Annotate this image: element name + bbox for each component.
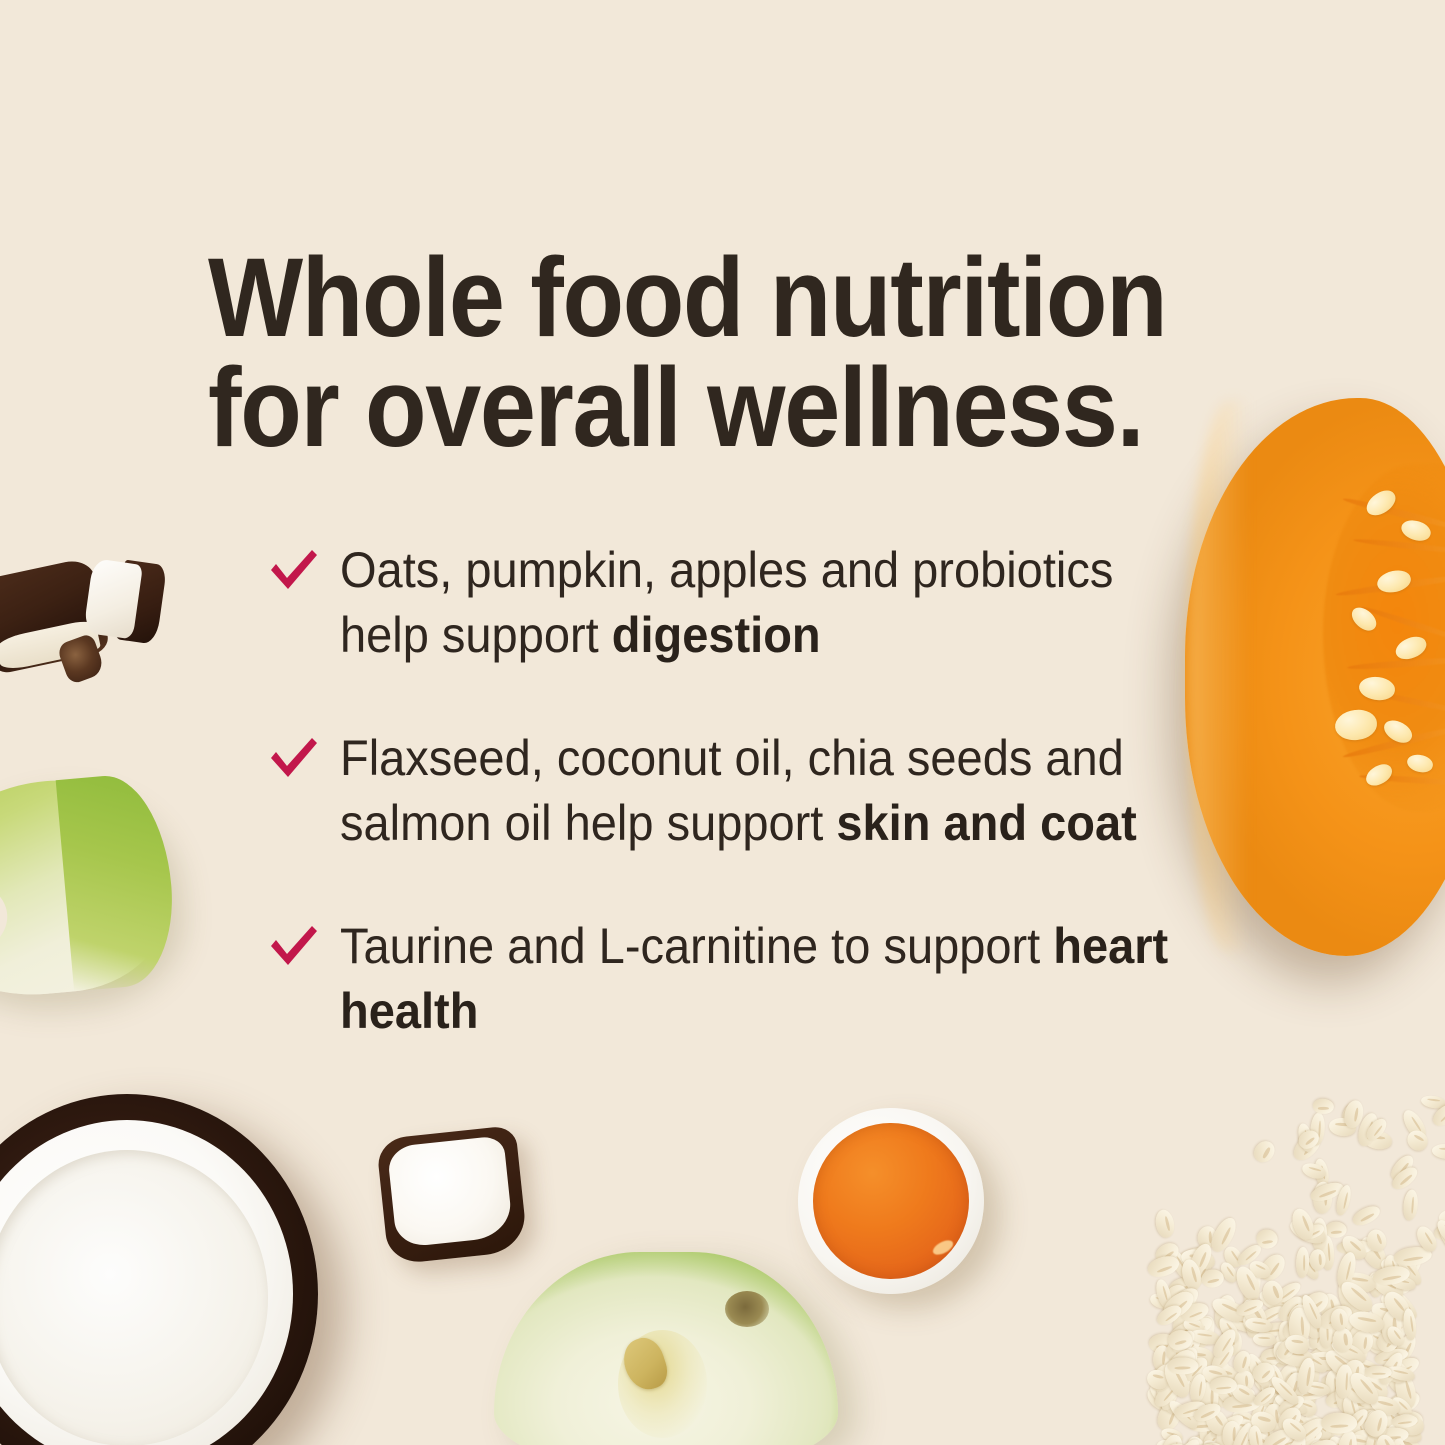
oat-flake <box>1180 1248 1217 1273</box>
salmon-oil-bowl-image <box>798 1108 984 1294</box>
oat-flake <box>1179 1353 1211 1385</box>
oat-flake <box>1166 1327 1194 1353</box>
oat-flake <box>1302 1340 1339 1373</box>
checkmark-icon <box>268 924 320 970</box>
oat-flake <box>1309 1178 1346 1205</box>
oat-flake <box>1321 1373 1355 1389</box>
oat-flake <box>1220 1244 1246 1272</box>
oat-flake <box>1351 1329 1374 1355</box>
oat-flake <box>1274 1335 1300 1363</box>
oat-flake <box>1168 1360 1204 1401</box>
oat-flake <box>1175 1313 1216 1346</box>
oat-flake <box>1392 1413 1419 1429</box>
oat-flake <box>1181 1317 1206 1337</box>
oat-flake <box>1273 1332 1290 1368</box>
oat-flake <box>1360 1433 1385 1445</box>
oat-flake <box>1378 1429 1408 1445</box>
oat-flake <box>1234 1434 1256 1445</box>
oat-flake <box>1179 1300 1211 1326</box>
oat-flake <box>1382 1362 1418 1399</box>
oat-flake <box>1432 1222 1445 1243</box>
oat-flake <box>1387 1421 1424 1445</box>
oat-flake <box>1143 1383 1179 1416</box>
oat-flake <box>1341 1270 1378 1293</box>
oat-flake <box>1312 1218 1327 1251</box>
oat-flake <box>1313 1181 1332 1213</box>
oat-flake <box>1367 1269 1407 1303</box>
oat-flake <box>1280 1315 1313 1345</box>
oat-flake <box>1391 1250 1421 1286</box>
oat-flake <box>1158 1381 1179 1407</box>
oat-flake <box>1278 1372 1314 1389</box>
oat-flake <box>1317 1300 1356 1333</box>
coconut-chunk-image <box>83 555 167 645</box>
oat-flake <box>1403 1189 1419 1221</box>
oat-flake <box>1211 1363 1240 1388</box>
oat-flake <box>1321 1348 1341 1374</box>
oat-flake <box>1294 1420 1316 1445</box>
oat-flake <box>1371 1319 1408 1356</box>
oat-flake <box>1258 1420 1277 1445</box>
oat-flake <box>1435 1221 1445 1256</box>
oat-flake <box>1229 1416 1267 1442</box>
oat-flake <box>1365 1365 1392 1378</box>
oat-flake <box>1273 1392 1309 1416</box>
oat-flake <box>1163 1345 1200 1384</box>
oat-flake <box>1326 1355 1356 1385</box>
oat-flake <box>1212 1361 1231 1394</box>
oat-flake <box>1208 1294 1248 1326</box>
oat-flake <box>1159 1426 1184 1445</box>
oat-flake <box>1232 1263 1265 1304</box>
oat-flake <box>1331 1308 1351 1336</box>
oat-flake <box>1337 1231 1370 1263</box>
oat-flake <box>1388 1430 1426 1445</box>
oat-flake <box>1355 1232 1391 1272</box>
oat-flake <box>1365 1227 1390 1254</box>
oat-flake <box>1148 1333 1178 1354</box>
oat-flake <box>1158 1358 1182 1386</box>
oat-flake <box>1201 1428 1224 1445</box>
oat-flake <box>1403 1127 1431 1154</box>
oat-flake <box>1364 1405 1381 1429</box>
oat-flake <box>1321 1412 1358 1434</box>
oat-flake <box>1402 1308 1418 1341</box>
oat-flake <box>1152 1345 1170 1371</box>
oat-flake <box>1221 1420 1241 1445</box>
oat-flake <box>1382 1253 1402 1282</box>
oat-flake <box>1242 1271 1263 1309</box>
oat-flake <box>1260 1278 1287 1308</box>
oat-flake <box>1166 1397 1201 1432</box>
oat-flake <box>1360 1317 1383 1343</box>
oat-flake <box>1304 1436 1333 1445</box>
oat-flake <box>1159 1433 1185 1445</box>
checkmark-icon <box>268 548 320 594</box>
oat-flake <box>1200 1268 1225 1290</box>
oat-flake <box>1147 1360 1178 1395</box>
oat-flake <box>1249 1358 1278 1387</box>
oat-flake <box>1329 1308 1349 1332</box>
oat-flake <box>1200 1391 1238 1406</box>
oat-flake <box>1270 1394 1285 1429</box>
oat-flake <box>1175 1344 1202 1376</box>
oat-flake <box>1155 1339 1182 1362</box>
oat-flake <box>1246 1258 1272 1281</box>
oat-flake <box>1324 1433 1355 1445</box>
oat-flake <box>1311 1349 1348 1373</box>
headline-line-1: Whole food nutrition <box>208 243 1171 353</box>
oat-flake <box>1295 1127 1322 1154</box>
oat-flake <box>1161 1436 1185 1445</box>
oat-flake <box>1162 1326 1199 1365</box>
oat-flake <box>1391 1331 1420 1367</box>
oat-flake <box>1388 1163 1420 1193</box>
benefit-text-lead: Taurine and L-carnitine to support <box>340 918 1053 974</box>
oat-flake <box>1339 1412 1364 1439</box>
oat-flake <box>1373 1369 1390 1390</box>
oat-flake <box>1256 1251 1289 1286</box>
coconut-chunk-image <box>56 633 106 685</box>
oat-flake <box>1354 1334 1369 1365</box>
oat-flake <box>1338 1425 1374 1445</box>
oat-flake <box>1394 1410 1423 1431</box>
oat-flake <box>1256 1376 1293 1412</box>
oat-flake <box>1284 1410 1310 1434</box>
oat-flake <box>1389 1394 1416 1420</box>
oat-flake <box>1362 1129 1393 1149</box>
oat-flake <box>1373 1346 1410 1368</box>
oat-flake <box>1329 1419 1362 1438</box>
checkmark-icon <box>268 736 320 782</box>
oat-flake <box>1256 1229 1279 1250</box>
oat-flake <box>1254 1303 1287 1328</box>
oat-flake <box>1226 1437 1249 1445</box>
oat-flake <box>1251 1383 1278 1409</box>
oat-flake <box>1160 1359 1194 1401</box>
oat-flake <box>1150 1354 1183 1386</box>
benefit-text: Taurine and L-carnitine to support heart… <box>340 914 1195 1044</box>
oat-flake <box>1392 1252 1425 1288</box>
oat-flake <box>1276 1392 1307 1419</box>
oat-flake <box>1253 1332 1276 1346</box>
oat-flake <box>1284 1334 1311 1356</box>
oat-flake <box>1210 1376 1238 1395</box>
oat-flake <box>1374 1326 1404 1356</box>
oat-flake <box>1334 1434 1370 1445</box>
rolled-oats-image <box>1126 1094 1445 1445</box>
oat-flake <box>1373 1426 1409 1445</box>
oat-flake <box>1290 1128 1326 1165</box>
oat-flake <box>1159 1379 1181 1411</box>
oat-flake <box>1252 1435 1284 1445</box>
oat-flake <box>1367 1272 1383 1298</box>
oat-flake <box>1160 1439 1192 1445</box>
oat-flake <box>1154 1302 1184 1330</box>
oat-flake <box>1265 1363 1287 1394</box>
oat-flake <box>1165 1246 1196 1284</box>
oat-flake <box>1292 1414 1325 1443</box>
page-title: Whole food nutrition for overall wellnes… <box>208 243 1171 463</box>
oat-flake <box>1287 1216 1329 1248</box>
oat-flake <box>1201 1406 1233 1439</box>
oat-flake <box>1211 1383 1238 1411</box>
oat-flake <box>1261 1426 1295 1445</box>
benefit-list: Oats, pumpkin, apples and probiotics hel… <box>268 538 1198 1044</box>
oat-flake <box>1229 1381 1258 1407</box>
oat-flake <box>1332 1377 1358 1415</box>
oat-flake <box>1221 1328 1243 1356</box>
oat-flake <box>1379 1356 1413 1388</box>
oat-flake <box>1369 1300 1406 1325</box>
oat-flake <box>1395 1253 1425 1286</box>
oat-flake <box>1341 1394 1362 1423</box>
oat-flake <box>1288 1205 1318 1242</box>
oat-flake <box>1344 1406 1371 1435</box>
oat-flake <box>1169 1326 1198 1356</box>
oat-flake <box>1217 1259 1240 1285</box>
oat-flake <box>1391 1438 1405 1445</box>
oat-flake <box>1291 1293 1322 1320</box>
oat-flake <box>1296 1252 1322 1282</box>
oat-flake <box>1275 1404 1305 1436</box>
oat-flake <box>1379 1256 1405 1276</box>
oat-flake <box>1216 1421 1234 1445</box>
oat-flake <box>1249 1436 1285 1445</box>
oat-flake <box>1152 1239 1182 1268</box>
oat-flake <box>1367 1338 1392 1357</box>
oat-flake <box>1345 1433 1373 1445</box>
oat-flake <box>1204 1415 1242 1441</box>
oat-flake <box>1166 1273 1198 1299</box>
oat-flake <box>1179 1257 1205 1292</box>
oat-flake <box>1182 1346 1214 1369</box>
oat-flake <box>1328 1337 1368 1366</box>
oat-flake <box>1205 1417 1234 1445</box>
oat-flake <box>1152 1435 1188 1445</box>
oat-flake <box>1345 1369 1383 1409</box>
oat-flake <box>1323 1370 1344 1403</box>
oat-flake <box>1234 1241 1263 1269</box>
oat-flake <box>1210 1411 1247 1443</box>
oat-flake <box>1197 1419 1216 1445</box>
oat-flake <box>1343 1099 1366 1129</box>
coconut-half-image <box>0 1094 318 1445</box>
oat-flake <box>1167 1356 1199 1374</box>
oat-flake <box>1357 1381 1374 1408</box>
oat-flake <box>1188 1431 1222 1445</box>
oat-flake <box>1309 1112 1325 1146</box>
oat-flake <box>1212 1297 1250 1324</box>
oat-flake <box>1302 1338 1336 1351</box>
oat-flake <box>1188 1253 1217 1291</box>
oat-flake <box>1162 1280 1192 1310</box>
oat-flake <box>1167 1316 1203 1344</box>
oat-flake <box>1362 1415 1390 1440</box>
oat-flake <box>1146 1252 1182 1281</box>
oat-flake <box>1176 1245 1211 1268</box>
oat-flake <box>1222 1393 1261 1414</box>
oat-flake <box>1244 1316 1273 1334</box>
oat-flake <box>1376 1312 1413 1349</box>
oat-flake <box>1198 1227 1217 1250</box>
oat-flake <box>1246 1427 1285 1445</box>
oat-flake <box>1282 1368 1310 1395</box>
oat-flake <box>1249 1409 1279 1435</box>
oat-flake <box>1338 1287 1373 1322</box>
oat-flake <box>1336 1240 1373 1256</box>
oat-flake <box>1364 1309 1392 1345</box>
oat-flake <box>1173 1287 1200 1315</box>
oat-flake <box>1336 1363 1358 1395</box>
oat-flake <box>1280 1371 1305 1409</box>
oat-flake <box>1429 1100 1445 1131</box>
oat-flake <box>1325 1221 1347 1238</box>
oat-flake <box>1377 1405 1412 1440</box>
oat-flake <box>1421 1095 1445 1110</box>
oat-flake <box>1200 1381 1219 1414</box>
oat-flake <box>1393 1244 1433 1268</box>
oat-flake <box>1324 1387 1355 1411</box>
oat-flake <box>1287 1346 1324 1389</box>
oat-flake <box>1159 1287 1197 1324</box>
oat-flake <box>1190 1441 1218 1445</box>
oat-flake <box>1376 1349 1407 1388</box>
oat-flake <box>1171 1435 1204 1445</box>
oat-flake <box>1363 1115 1389 1143</box>
oat-flake <box>1287 1387 1316 1407</box>
oat-flake <box>1166 1283 1202 1318</box>
oat-flake <box>1213 1293 1238 1330</box>
oat-flake <box>1154 1399 1184 1433</box>
oat-flake <box>1349 1417 1373 1445</box>
oat-flake <box>1339 1101 1362 1127</box>
oat-flake <box>1309 1248 1326 1271</box>
oat-flake <box>1363 1328 1391 1353</box>
oat-flake <box>1163 1350 1182 1377</box>
oat-flake <box>1384 1323 1408 1349</box>
oat-flake <box>1380 1291 1404 1310</box>
oat-flake <box>1276 1319 1300 1351</box>
oat-flake <box>1188 1313 1218 1352</box>
oat-flake <box>1353 1373 1376 1398</box>
coconut-piece-image <box>376 1125 528 1265</box>
oat-flake <box>1348 1309 1386 1335</box>
oat-flake <box>1368 1393 1402 1418</box>
oat-flake <box>1299 1293 1326 1331</box>
oat-flake <box>1189 1373 1208 1403</box>
oat-flake <box>1284 1433 1310 1445</box>
oat-flake <box>1208 1214 1241 1256</box>
oat-flake <box>1158 1382 1178 1410</box>
oat-flake <box>1389 1407 1415 1445</box>
oat-flake <box>1234 1296 1265 1319</box>
oat-flake <box>1273 1430 1307 1445</box>
oat-flake <box>1386 1353 1422 1383</box>
oat-flake <box>1256 1287 1295 1318</box>
oat-flake <box>1269 1338 1298 1368</box>
oat-flake <box>1275 1292 1306 1325</box>
oat-flake <box>1239 1359 1268 1385</box>
oat-flake <box>1339 1361 1359 1386</box>
oat-flake <box>1385 1286 1420 1322</box>
oat-flake <box>1364 1410 1384 1440</box>
oat-flake <box>1211 1326 1240 1360</box>
oat-flake <box>1271 1278 1303 1307</box>
oat-flake <box>1239 1307 1263 1327</box>
oat-flake <box>1296 1122 1317 1153</box>
oat-flake <box>1328 1117 1356 1136</box>
oat-flake <box>1372 1264 1411 1288</box>
oat-flake <box>1234 1414 1268 1445</box>
oat-flake <box>1172 1399 1207 1421</box>
oat-flake <box>1272 1437 1295 1445</box>
oat-flake <box>1350 1364 1379 1394</box>
oat-flake <box>1373 1432 1399 1445</box>
oat-flake <box>1195 1438 1227 1445</box>
oat-flake <box>1251 1137 1279 1166</box>
oat-flake <box>1245 1311 1260 1338</box>
oat-flake <box>1274 1392 1293 1415</box>
oat-flake <box>1318 1317 1332 1347</box>
oat-flake <box>1189 1328 1220 1346</box>
oat-flake <box>1342 1354 1382 1381</box>
oat-flake <box>1240 1307 1270 1336</box>
oat-flake <box>1308 1330 1346 1359</box>
oat-flake <box>1431 1144 1445 1160</box>
oat-flake <box>1332 1326 1355 1352</box>
oat-flake <box>1394 1412 1426 1437</box>
oat-flake <box>1303 1380 1331 1398</box>
oat-flake <box>1339 1319 1365 1345</box>
oat-flake <box>1152 1334 1180 1356</box>
oat-flake <box>1294 1396 1320 1419</box>
oat-flake <box>1433 1217 1445 1250</box>
oat-flake <box>1244 1351 1274 1391</box>
oat-flake <box>1338 1355 1355 1377</box>
oat-flake <box>1147 1332 1173 1355</box>
benefit-text: Flaxseed, coconut oil, chia seeds and sa… <box>340 726 1195 856</box>
oat-flake <box>1232 1349 1253 1375</box>
oat-flake <box>1196 1375 1224 1407</box>
oat-flake <box>1340 1312 1374 1339</box>
oat-flake <box>1285 1302 1310 1332</box>
oat-flake <box>1260 1348 1284 1364</box>
oat-flake <box>1399 1106 1431 1143</box>
oat-flake <box>1191 1399 1223 1425</box>
oat-flake <box>1439 1210 1445 1228</box>
oat-flake <box>1208 1341 1237 1373</box>
oat-flake <box>1335 1278 1359 1313</box>
oat-flake <box>1145 1368 1170 1391</box>
oat-flake <box>1201 1367 1236 1393</box>
oat-flake <box>1256 1427 1269 1445</box>
oat-flake <box>1275 1343 1315 1370</box>
list-item: Taurine and L-carnitine to support heart… <box>268 914 1198 1044</box>
oat-flake <box>1364 1408 1391 1440</box>
oat-flake <box>1257 1427 1282 1445</box>
oat-flake <box>1318 1292 1344 1323</box>
oat-flake <box>1146 1380 1178 1411</box>
oat-flake <box>1301 1410 1336 1444</box>
oat-flake <box>1153 1208 1177 1240</box>
oat-flake <box>1337 1277 1378 1316</box>
oat-flake <box>1260 1393 1298 1409</box>
oat-flake <box>1388 1152 1417 1184</box>
oat-flake <box>1153 1383 1181 1417</box>
oat-flake <box>1216 1314 1244 1345</box>
list-item: Flaxseed, coconut oil, chia seeds and sa… <box>268 726 1198 856</box>
